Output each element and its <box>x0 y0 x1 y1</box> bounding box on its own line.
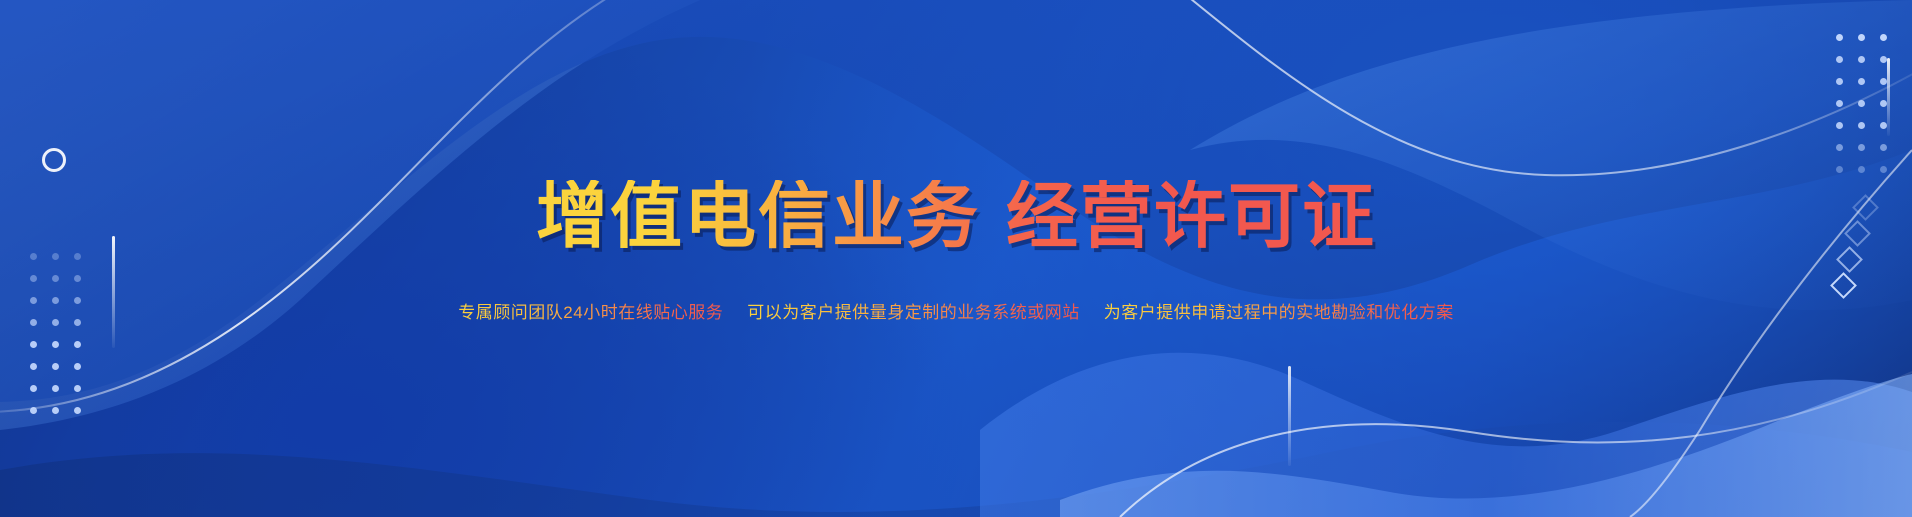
subtitle-segment-2: 可以为客户提供量身定制的业务系统或网站 <box>747 298 1080 323</box>
subtitle-segment-1: 专属顾问团队24小时在线贴心服务 <box>458 298 723 323</box>
promo-banner: 增值电信业务经营许可证 专属顾问团队24小时在线贴心服务可以为客户提供量身定制的… <box>0 0 1912 517</box>
subtitle-segment-3: 为客户提供申请过程中的实地勘验和优化方案 <box>1104 298 1454 323</box>
banner-content: 增值电信业务经营许可证 专属顾问团队24小时在线贴心服务可以为客户提供量身定制的… <box>0 0 1912 517</box>
headline-part-1: 增值电信业务 <box>536 177 980 257</box>
banner-subtitle: 专属顾问团队24小时在线贴心服务可以为客户提供量身定制的业务系统或网站为客户提供… <box>458 298 1453 323</box>
banner-headline: 增值电信业务经营许可证 <box>536 180 1376 256</box>
headline-part-2: 经营许可证 <box>1006 177 1376 257</box>
